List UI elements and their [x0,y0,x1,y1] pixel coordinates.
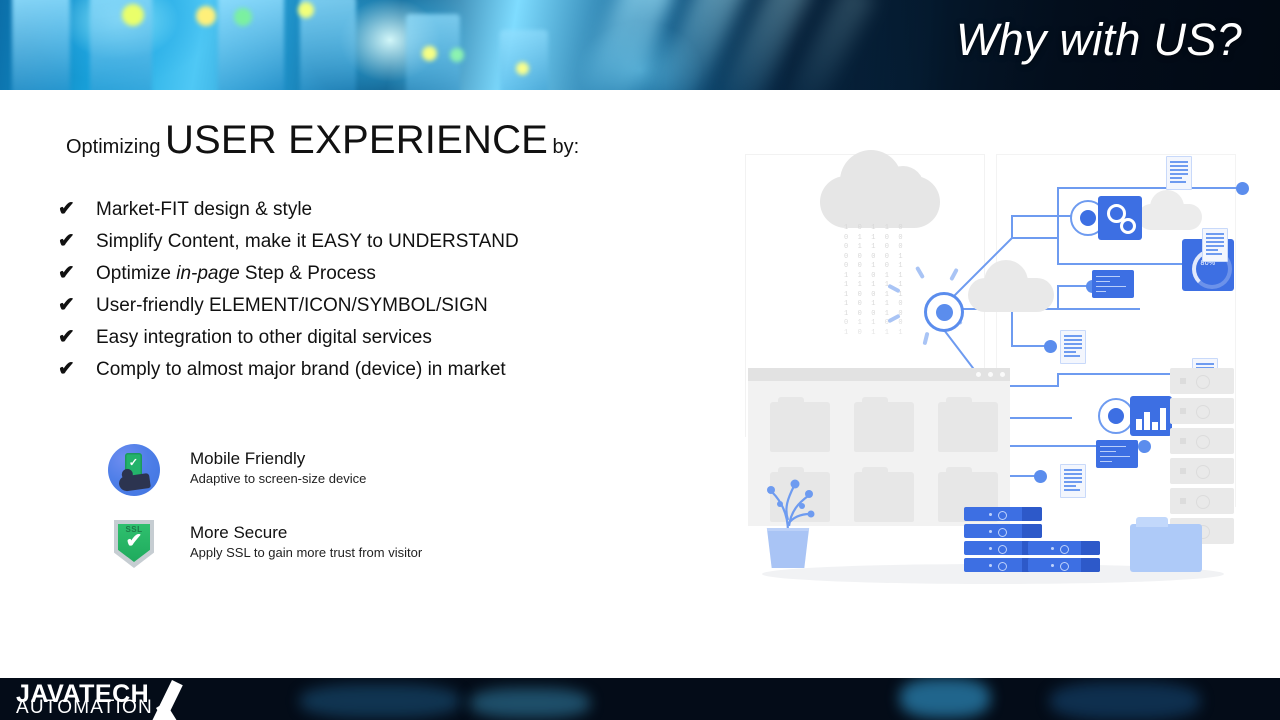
gear-icon [1120,218,1136,234]
benefits-list: ✔ Market-FIT design & style ✔ Simplify C… [58,199,519,391]
footer-decor-blob [300,684,460,718]
header-banner: Why with US? [0,0,1280,90]
document-icon [1202,228,1228,262]
folder-icon [1130,524,1202,572]
server-rack-row [1170,368,1234,394]
code-window-tile [1092,270,1134,298]
check-mark-icon: ✔ [58,263,96,283]
headline-prefix: Optimizing [66,136,160,158]
logo-line-2: AUTOMATION [16,698,153,717]
feature-text: More Secure Apply SSL to gain more trust… [190,518,422,560]
cloud-shape [820,176,940,228]
code-window-tile [1096,440,1138,468]
footer-decor-blob [470,688,590,718]
footer-banner: JAVATECH AUTOMATION [0,678,1280,720]
document-icon [1060,464,1086,498]
folder-placeholder [854,402,914,452]
headline-main: USER EXPERIENCE [165,118,548,162]
feature-text: Mobile Friendly Adaptive to screen-size … [190,444,366,486]
bar-chart-bars [1136,404,1168,430]
folder-placeholder [854,472,914,522]
list-item: ✔ Simplify Content, make it EASY to UNDE… [58,231,519,263]
list-item: ✔ Easy integration to other digital serv… [58,327,519,359]
footer-decor-blob [900,678,990,718]
server-rack-row [1170,398,1234,424]
bar-chart-tile [1130,396,1172,436]
list-item: ✔ Market-FIT design & style [58,199,519,231]
feature-subtitle: Apply SSL to gain more trust from visito… [190,545,422,560]
server-unit [964,507,1042,521]
window-dot [988,372,993,377]
feature-subtitle: Adaptive to screen-size device [190,471,366,486]
endpoint-dot [1044,340,1057,353]
browser-title-bar [748,368,1010,381]
binary-data-rain: 1 0 1 1 0 1 0 1 1 0 0 1 0 1 1 0 0 1 0 0 … [844,224,912,364]
server-rack-row [1170,488,1234,514]
endpoint-dot [1138,440,1151,453]
logo-check-mark-icon [142,680,198,720]
feature-title: More Secure [190,522,422,543]
company-logo: JAVATECH AUTOMATION [16,682,196,720]
check-mark-icon: ✔ [58,295,96,315]
settings-gears-tile [1098,196,1142,240]
window-dot [1000,372,1005,377]
server-unit [1028,541,1100,555]
list-item: ✔ User-friendly ELEMENT/ICON/SYMBOL/SIGN [58,295,519,327]
endpoint-dot [1034,470,1047,483]
document-icon [1060,330,1086,364]
window-dot [976,372,981,377]
list-item-label: Easy integration to other digital servic… [96,327,432,349]
server-unit [1028,558,1100,572]
folder-placeholder [770,402,830,452]
feature-list: Mobile Friendly Adaptive to screen-size … [108,444,422,592]
footer-decor-blob [1050,682,1200,720]
list-item-label: User-friendly ELEMENT/ICON/SYMBOL/SIGN [96,295,488,317]
feature-title: Mobile Friendly [190,448,366,469]
feature-mobile-friendly: Mobile Friendly Adaptive to screen-size … [108,444,422,496]
server-rack-row [1170,428,1234,454]
central-hub-node [924,292,964,332]
mobile-phone-check-icon [108,444,160,496]
check-mark-icon: ✔ [118,531,150,551]
check-mark-icon: ✔ [58,199,96,219]
list-item: ✔ Optimize in-page Step & Process [58,263,519,295]
list-item-label: Market-FIT design & style [96,199,312,221]
document-icon [1166,156,1192,190]
ssl-shield-check-icon: SSL ✔ [108,518,160,570]
list-item-label: Simplify Content, make it EASY to UNDERS… [96,231,519,253]
check-mark-icon: ✔ [58,359,96,379]
cloud-network-infrastructure-illustration: 1 0 1 1 0 1 0 1 1 0 0 1 0 1 1 0 0 1 0 0 … [740,146,1240,594]
headline: Optimizing USER EXPERIENCE by: [66,118,579,163]
page-title: Why with US? [956,14,1242,66]
network-node [1098,398,1134,434]
plant-pot [764,528,812,568]
feature-more-secure: SSL ✔ More Secure Apply SSL to gain more… [108,518,422,570]
folder-placeholder [938,402,998,452]
server-unit [964,524,1042,538]
server-rack-row [1170,458,1234,484]
check-mark-icon: ✔ [58,231,96,251]
list-item-label: Comply to almost major brand (device) in… [96,359,506,381]
headline-suffix: by: [553,136,580,158]
list-item-label: Optimize in-page Step & Process [96,263,376,285]
check-mark-icon: ✔ [58,327,96,347]
cloud-shape [1138,204,1202,230]
cloud-shape [968,278,1054,312]
endpoint-dot [1236,182,1249,195]
list-item: ✔ Comply to almost major brand (device) … [58,359,519,391]
plant-graphic [758,464,828,534]
